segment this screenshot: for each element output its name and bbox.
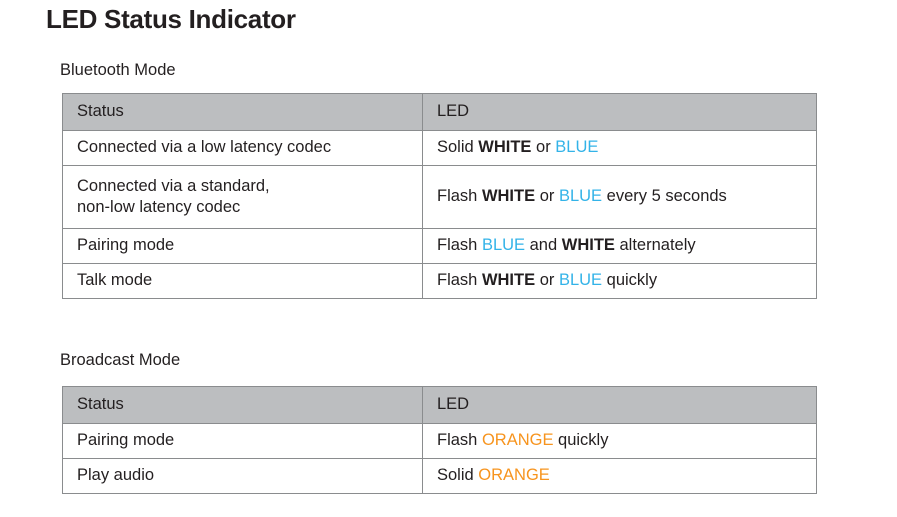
led-text: quickly xyxy=(602,271,657,289)
cell-status: Talk mode xyxy=(63,264,423,299)
led-color-keyword-white: WHITE xyxy=(482,187,535,205)
cell-led: Flash WHITE or BLUE quickly xyxy=(423,264,817,299)
led-text: alternately xyxy=(615,236,696,254)
status-text: Pairing mode xyxy=(77,430,408,451)
led-color-keyword-blue: BLUE xyxy=(555,138,598,156)
led-text: and xyxy=(525,236,562,254)
cell-led: Solid ORANGE xyxy=(423,459,817,494)
table-header-row: Status LED xyxy=(63,387,817,424)
bluetooth-mode-table-body: Connected via a low latency codec Solid … xyxy=(63,131,817,299)
table-header-row: Status LED xyxy=(63,94,817,131)
column-header-status: Status xyxy=(63,387,423,424)
led-color-keyword-orange: ORANGE xyxy=(478,466,550,484)
led-text: every 5 seconds xyxy=(602,187,727,205)
cell-status: Connected via a standard, non-low latenc… xyxy=(63,166,423,229)
led-color-keyword-white: WHITE xyxy=(482,271,535,289)
led-text: or xyxy=(535,271,559,289)
led-color-keyword-orange: ORANGE xyxy=(482,431,554,449)
table-row: Play audio Solid ORANGE xyxy=(63,459,817,494)
led-color-keyword-blue: BLUE xyxy=(559,187,602,205)
cell-status: Connected via a low latency codec xyxy=(63,131,423,166)
table-row: Talk mode Flash WHITE or BLUE quickly xyxy=(63,264,817,299)
table-row: Connected via a low latency codec Solid … xyxy=(63,131,817,166)
led-text: or xyxy=(531,138,555,156)
led-text: Flash xyxy=(437,431,482,449)
section-label-broadcast-mode: Broadcast Mode xyxy=(60,351,180,370)
table-row: Pairing mode Flash BLUE and WHITE altern… xyxy=(63,229,817,264)
led-text: Flash xyxy=(437,271,482,289)
led-text: or xyxy=(535,187,559,205)
table-row: Connected via a standard, non-low latenc… xyxy=(63,166,817,229)
led-color-keyword-blue: BLUE xyxy=(482,236,525,254)
led-color-keyword-white: WHITE xyxy=(562,236,615,254)
status-text: Connected via a low latency codec xyxy=(77,137,408,158)
page-title: LED Status Indicator xyxy=(46,4,296,35)
led-text: Solid xyxy=(437,466,478,484)
led-color-keyword-blue: BLUE xyxy=(559,271,602,289)
led-text: Solid xyxy=(437,138,478,156)
status-text-line2: non-low latency codec xyxy=(77,197,408,218)
status-text: Play audio xyxy=(77,465,408,486)
led-text: quickly xyxy=(553,431,608,449)
cell-led: Flash ORANGE quickly xyxy=(423,424,817,459)
cell-status: Pairing mode xyxy=(63,424,423,459)
section-label-bluetooth-mode: Bluetooth Mode xyxy=(60,61,176,80)
broadcast-mode-table-body: Pairing mode Flash ORANGE quickly Play a… xyxy=(63,424,817,494)
status-text: Pairing mode xyxy=(77,235,408,256)
cell-led: Solid WHITE or BLUE xyxy=(423,131,817,166)
status-text: Talk mode xyxy=(77,270,408,291)
led-text: Flash xyxy=(437,187,482,205)
cell-led: Flash WHITE or BLUE every 5 seconds xyxy=(423,166,817,229)
cell-status: Pairing mode xyxy=(63,229,423,264)
cell-status: Play audio xyxy=(63,459,423,494)
led-color-keyword-white: WHITE xyxy=(478,138,531,156)
cell-led: Flash BLUE and WHITE alternately xyxy=(423,229,817,264)
column-header-led: LED xyxy=(423,387,817,424)
table-row: Pairing mode Flash ORANGE quickly xyxy=(63,424,817,459)
broadcast-mode-table: Status LED Pairing mode Flash ORANGE qui… xyxy=(62,386,817,494)
column-header-led: LED xyxy=(423,94,817,131)
status-text-line1: Connected via a standard, xyxy=(77,176,408,197)
column-header-status: Status xyxy=(63,94,423,131)
led-text: Flash xyxy=(437,236,482,254)
bluetooth-mode-table: Status LED Connected via a low latency c… xyxy=(62,93,817,299)
led-status-document: LED Status Indicator Bluetooth Mode Stat… xyxy=(0,0,897,517)
